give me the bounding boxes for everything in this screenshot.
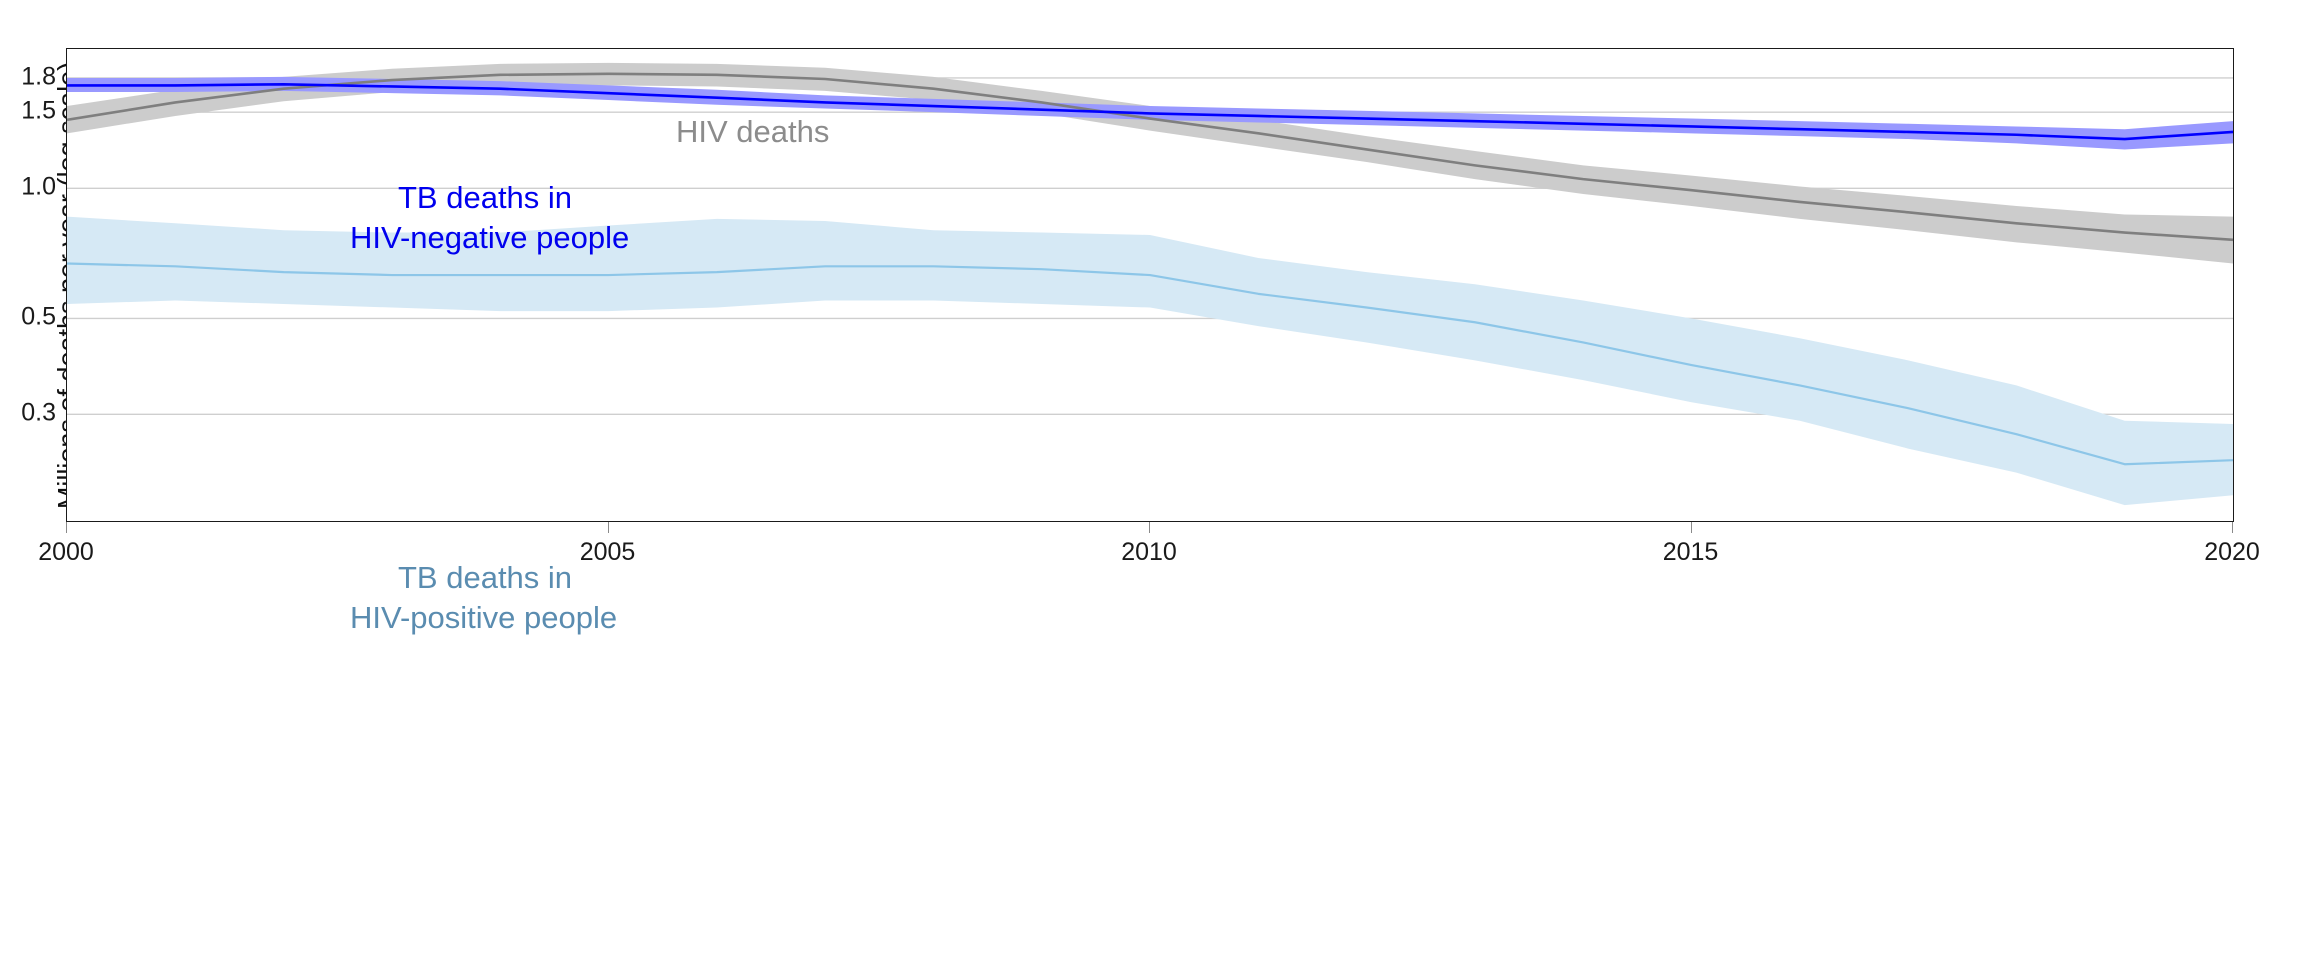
chart-root: Millions of deaths per year (log scale) … [0,0,2304,960]
band-2 [67,217,2233,506]
x-tick-mark [608,522,609,533]
plot-area [66,48,2234,522]
series-svg [67,49,2233,521]
y-tick-label: 1.0 [21,173,56,202]
uncertainty-bands [67,63,2233,505]
x-tick-mark [1149,522,1150,533]
x-tick-label: 2015 [1663,538,1719,567]
x-tick-label: 2005 [580,538,636,567]
y-tick-label: 0.5 [21,303,56,332]
x-tick-mark [66,522,67,533]
x-tick-label: 2010 [1121,538,1177,567]
x-tick-mark [2232,522,2233,533]
y-tick-label: 0.3 [21,399,56,428]
y-axis-tick-labels: 1.81.51.00.50.3 [0,48,60,522]
x-tick-mark [1691,522,1692,533]
annotation-tb-hiv-positive-line2: HIV-positive people [350,598,617,638]
x-axis-tick-labels: 20002005201020152020 [66,522,2234,582]
y-tick-label: 1.5 [21,97,56,126]
x-tick-label: 2020 [2204,538,2260,567]
x-tick-label: 2000 [38,538,94,567]
y-tick-label: 1.8 [21,62,56,91]
